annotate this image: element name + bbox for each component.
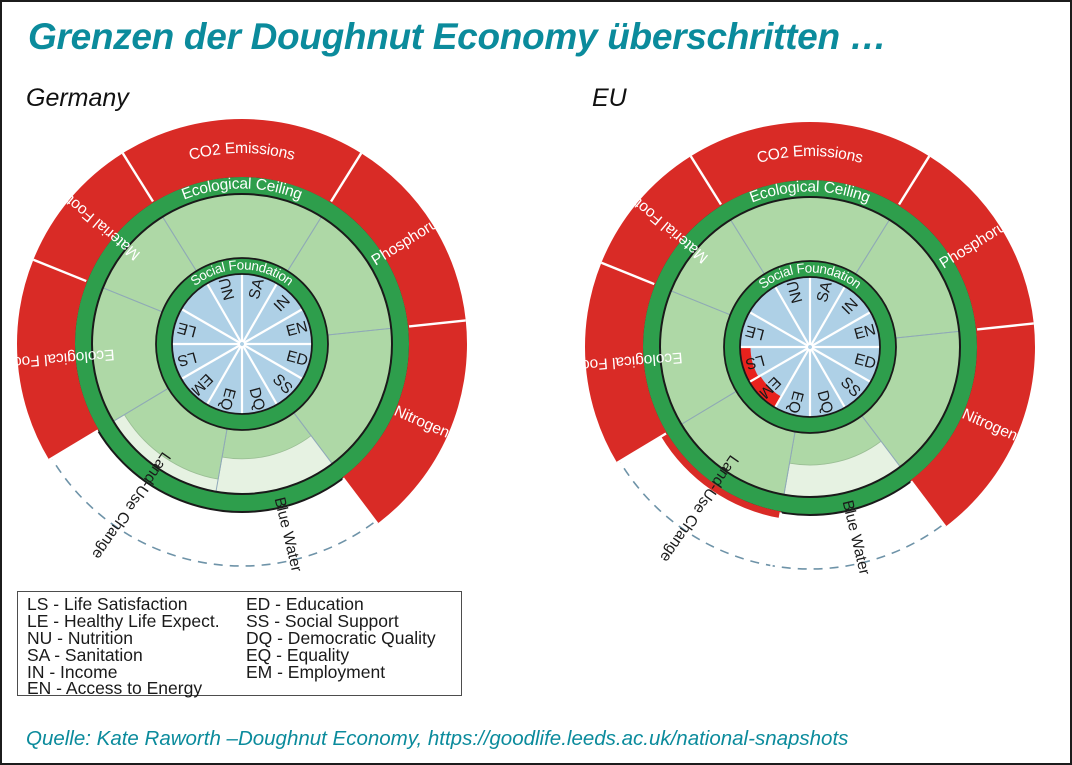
legend-column-left: LS - Life SatisfactionLE - Healthy Life … bbox=[27, 596, 220, 697]
legend-box: LS - Life SatisfactionLE - Healthy Life … bbox=[17, 591, 462, 696]
panel-title-germany: Germany bbox=[26, 84, 129, 113]
social-foundation-group-eu: NUSAINENEDSSDQEQEMLSLE bbox=[724, 261, 896, 433]
slide-canvas: Grenzen der Doughnut Economy überschritt… bbox=[0, 0, 1072, 765]
overshoot-divider bbox=[771, 512, 781, 568]
eco-label-blue-water: Blue Water bbox=[839, 499, 873, 577]
legend-column-right: ED - EducationSS - Social SupportDQ - De… bbox=[246, 596, 436, 680]
legend-item: EN - Access to Energy bbox=[27, 680, 220, 697]
panel-title-eu: EU bbox=[592, 84, 627, 113]
page-title: Grenzen der Doughnut Economy überschritt… bbox=[28, 16, 1048, 58]
social-foundation-group-germany: NUSAINENEDSSDQEQEMLSLE bbox=[156, 258, 328, 430]
doughnut-svg-germany: NUSAINENEDSSDQEQEMLSLESocial FoundationE… bbox=[12, 114, 472, 574]
doughnut-chart-eu: NUSAINENEDSSDQEQEMLSLESocial FoundationE… bbox=[580, 117, 1040, 582]
source-note: Quelle: Kate Raworth –Doughnut Economy, … bbox=[26, 727, 848, 751]
eco-label-blue-water: Blue Water bbox=[271, 496, 305, 574]
legend-item: EM - Employment bbox=[246, 664, 436, 681]
doughnut-svg-eu: NUSAINENEDSSDQEQEMLSLESocial FoundationE… bbox=[580, 117, 1040, 577]
doughnut-chart-germany: NUSAINENEDSSDQEQEMLSLESocial FoundationE… bbox=[12, 114, 472, 579]
